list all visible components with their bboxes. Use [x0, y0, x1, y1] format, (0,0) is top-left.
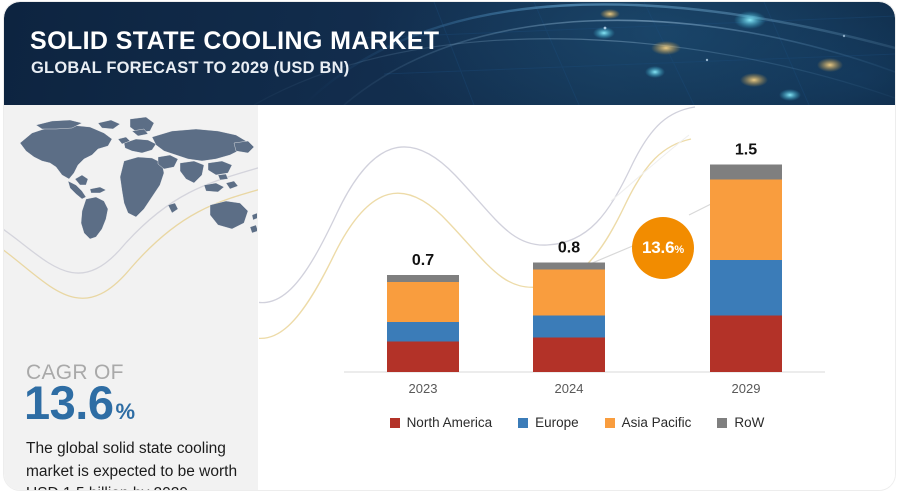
legend-item[interactable]: Asia Pacific: [605, 415, 692, 430]
bar-total-labels: 0.70.81.5: [412, 142, 757, 270]
legend-item[interactable]: Europe: [518, 415, 579, 430]
bars-group: [387, 165, 782, 373]
axis-category-label: 2029: [732, 381, 761, 396]
legend-swatch-icon: [518, 418, 528, 428]
bar-total-label: 0.8: [558, 240, 580, 257]
axis-category-label: 2023: [409, 381, 438, 396]
axis-category-label: 2024: [555, 381, 584, 396]
chart-canvas: 0.70.81.5 202320242029: [259, 105, 895, 490]
cagr-value: 13.6 %: [24, 379, 135, 426]
bar-segment: [533, 315, 605, 337]
legend-swatch-icon: [605, 418, 615, 428]
bar-segment: [710, 180, 782, 260]
bar-segment: [533, 263, 605, 270]
legend-label: RoW: [734, 415, 764, 430]
bar-total-label: 0.7: [412, 252, 434, 269]
cagr-callout-bubble: 13.6%: [632, 217, 694, 279]
world-map: [12, 113, 257, 241]
card-frame: SOLID STATE COOLING MARKET GLOBAL FORECA…: [4, 2, 895, 490]
bar-segment: [710, 315, 782, 372]
sidebar-panel: CAGR OF 13.6 % The global solid state co…: [4, 105, 258, 490]
cagr-callout-unit: %: [674, 244, 684, 256]
chart-panel: 0.70.81.5 202320242029 13.6% North Ameri…: [259, 105, 895, 490]
cagr-number: 13.6: [24, 379, 113, 426]
bar-segment: [710, 260, 782, 315]
cagr-callout-text: 13.6%: [642, 238, 684, 258]
legend-swatch-icon: [717, 418, 727, 428]
bar-segment: [533, 337, 605, 372]
bar-segment: [387, 275, 459, 282]
cagr-percent-sign: %: [115, 399, 135, 425]
bar-segment: [387, 282, 459, 322]
bar-segment: [387, 342, 459, 372]
legend-label: Europe: [535, 415, 579, 430]
legend-label: North America: [407, 415, 493, 430]
header-banner: SOLID STATE COOLING MARKET GLOBAL FORECA…: [4, 2, 895, 105]
legend-item[interactable]: RoW: [717, 415, 764, 430]
sidebar-description: The global solid state cooling market is…: [26, 438, 242, 490]
bar-total-label: 1.5: [735, 142, 757, 159]
bar-segment: [533, 270, 605, 316]
legend-swatch-icon: [390, 418, 400, 428]
legend-item[interactable]: North America: [390, 415, 493, 430]
page-subtitle: GLOBAL FORECAST TO 2029 (USD BN): [31, 59, 349, 78]
bar-segment: [387, 322, 459, 341]
cagr-callout-value: 13.6: [642, 238, 674, 257]
legend-label: Asia Pacific: [622, 415, 692, 430]
bar-segment: [710, 165, 782, 180]
chart-legend: North AmericaEuropeAsia PacificRoW: [259, 415, 895, 430]
page-title: SOLID STATE COOLING MARKET: [30, 27, 439, 56]
infographic-root: SOLID STATE COOLING MARKET GLOBAL FORECA…: [0, 0, 899, 493]
axis-category-labels: 202320242029: [409, 381, 761, 396]
